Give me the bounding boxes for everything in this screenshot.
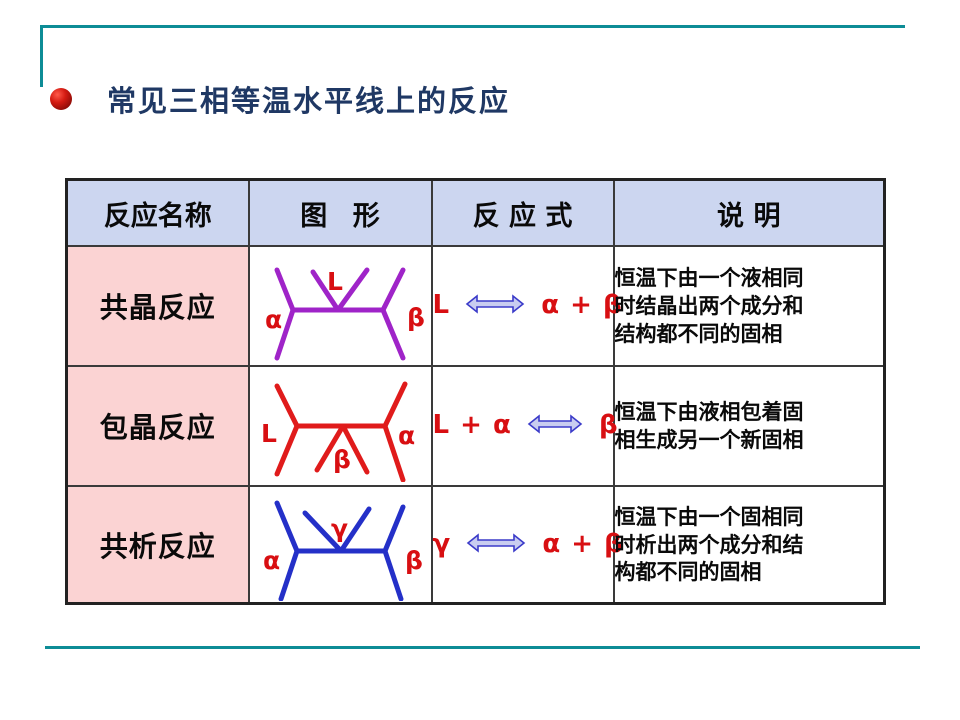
figure-cell: α L β xyxy=(249,246,432,366)
equation-plus: + xyxy=(568,290,594,320)
reaction-name-cell: 包晶反应 xyxy=(67,366,249,486)
table-header-row: 反应名称 图 形 反 应 式 说 明 xyxy=(67,180,885,247)
description-line: 恒温下由一个液相同 xyxy=(615,264,884,292)
column-header-reaction-name: 反应名称 xyxy=(67,180,249,247)
equation-plus: + xyxy=(458,410,484,440)
page-title: 常见三相等温水平线上的反应 xyxy=(107,78,510,120)
description-cell: 恒温下由一个固相同 时析出两个成分和结 构都不同的固相 xyxy=(614,486,885,604)
table-row: 共析反应 α γ β xyxy=(67,486,885,604)
slide-bottom-rule xyxy=(45,646,920,649)
double-arrow-icon xyxy=(527,412,583,442)
figure-cell: L β α xyxy=(249,366,432,486)
reaction-name-cell: 共析反应 xyxy=(67,486,249,604)
figure-label-alpha: α xyxy=(398,421,415,450)
equation-right-term-a: α xyxy=(541,290,559,320)
figure-cell: α γ β xyxy=(249,486,432,604)
figure-label-beta: β xyxy=(407,303,425,332)
column-header-equation: 反 应 式 xyxy=(432,180,614,247)
description-line: 结构都不同的固相 xyxy=(615,320,884,348)
description-line: 恒温下由一个固相同 xyxy=(615,503,884,531)
table-row: 共晶反应 α L β xyxy=(67,246,885,366)
description-line: 时析出两个成分和结 xyxy=(615,531,884,559)
three-phase-reaction-table: 反应名称 图 形 反 应 式 说 明 共晶反应 xyxy=(65,178,886,605)
figure-label-liquid: L xyxy=(261,419,277,448)
description-cell: 恒温下由一个液相同 时结晶出两个成分和 结构都不同的固相 xyxy=(614,246,885,366)
equation-right-term-a: α xyxy=(542,529,560,559)
description-cell: 恒温下由液相包着固 相生成另一个新固相 xyxy=(614,366,885,486)
equation-cell: L + α β xyxy=(432,366,614,486)
table-body: 共晶反应 α L β xyxy=(67,246,885,604)
description-line: 时结晶出两个成分和 xyxy=(615,292,884,320)
table-header: 反应名称 图 形 反 应 式 说 明 xyxy=(67,180,885,247)
reaction-name-cell: 共晶反应 xyxy=(67,246,249,366)
column-header-figure: 图 形 xyxy=(249,180,432,247)
double-arrow-icon xyxy=(466,531,526,561)
equation-cell: L α + β xyxy=(432,246,614,366)
eutectoid-phase-diagram-icon: α γ β xyxy=(255,489,425,601)
column-header-description: 说 明 xyxy=(614,180,885,247)
figure-label-alpha: α xyxy=(263,546,280,575)
equation-left-term: L xyxy=(433,410,450,440)
description-line: 恒温下由液相包着固 xyxy=(615,398,884,426)
peritectic-phase-diagram-icon: L β α xyxy=(255,370,425,482)
slide-top-rule xyxy=(40,25,905,28)
figure-label-alpha: α xyxy=(265,305,282,334)
figure-label-beta: β xyxy=(405,546,423,575)
eutectic-phase-diagram-icon: α L β xyxy=(255,250,425,362)
description-line: 相生成另一个新固相 xyxy=(615,426,884,454)
slide-title-row: 常见三相等温水平线上的反应 xyxy=(50,78,510,120)
figure-label-gamma: γ xyxy=(331,514,348,543)
description-line: 构都不同的固相 xyxy=(615,558,884,586)
slide-left-rule xyxy=(40,25,43,87)
figure-label-beta: β xyxy=(333,445,351,474)
equation-cell: γ α + β xyxy=(432,486,614,604)
red-sphere-bullet-icon xyxy=(50,88,72,110)
double-arrow-icon xyxy=(465,292,525,322)
equation-plus: + xyxy=(569,529,595,559)
equation-left-term-b: α xyxy=(493,410,511,440)
figure-label-liquid: L xyxy=(327,267,343,296)
table-row: 包晶反应 L β α xyxy=(67,366,885,486)
equation-left-term: γ xyxy=(433,529,451,559)
equation-left-term: L xyxy=(433,290,450,320)
